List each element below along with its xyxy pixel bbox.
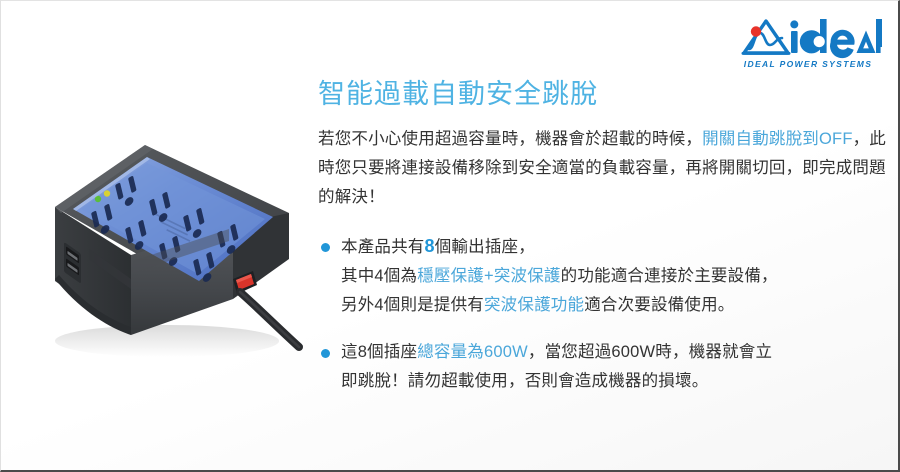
bullet2-line1-b: ，當您超過600W時，機器就會立 [528, 343, 772, 361]
brand-logo: IDEAL POWER SYSTEMS [732, 15, 882, 77]
bullet1-line2-b: 的功能適合連接於主要設備， [561, 267, 778, 285]
total-capacity-highlight: 總容量為600W [417, 343, 528, 361]
product-feature-banner: IDEAL POWER SYSTEMS [0, 0, 900, 472]
bullet1-line1: 本產品共有8個輸出插座， [341, 232, 890, 262]
bullet1-line3-a: 另外4個則是提供有 [341, 296, 484, 314]
intro-part1: 若您不小心使用超過容量時，機器會於超載的時候， [318, 130, 702, 148]
list-item: 這8個插座總容量為600W，當您超過600W時，機器就會立 即跳脫！請勿超載使用… [318, 338, 890, 396]
outlet-count-value: 8 [425, 236, 435, 256]
feature-bullet-list: 本產品共有8個輸出插座， 其中4個為穩壓保護+突波保護的功能適合連接於主要設備，… [318, 232, 890, 396]
intro-paragraph: 若您不小心使用超過容量時，機器會於超載的時候，開關自動跳脫到OFF，此時您只要將… [318, 125, 890, 212]
ideal-logo-icon [732, 17, 882, 59]
banner-background: IDEAL POWER SYSTEMS [1, 1, 898, 470]
bullet1-line1-b: 個輸出插座， [435, 238, 535, 256]
bullet2-line1-a: 這8個插座 [341, 343, 417, 361]
bullet1-line3-b: 適合次要設備使用。 [584, 296, 734, 314]
bullet1-line2: 其中4個為穩壓保護+突波保護的功能適合連接於主要設備， [341, 262, 890, 291]
brand-tagline: IDEAL POWER SYSTEMS [736, 59, 880, 69]
list-item: 本產品共有8個輸出插座， 其中4個為穩壓保護+突波保護的功能適合連接於主要設備，… [318, 232, 890, 320]
bullet1-line2-a: 其中4個為 [341, 267, 417, 285]
bullet1-line2-highlight: 穩壓保護+突波保護 [417, 267, 560, 285]
bullet1-line3: 另外4個則是提供有突波保護功能適合次要設備使用。 [341, 291, 890, 320]
product-photo [37, 129, 327, 369]
bullet-dot-icon [321, 243, 330, 252]
page-title: 智能過載自動安全跳脫 [318, 77, 890, 111]
bullet-dot-icon [321, 349, 330, 358]
bullet2-line2: 即跳脫！請勿超載使用，否則會造成機器的損壞。 [341, 367, 890, 396]
surge-protector-illustration [37, 129, 327, 369]
bullet1-line1-a: 本產品共有 [341, 238, 425, 256]
bullet1-line3-highlight: 突波保護功能 [484, 296, 584, 314]
feature-text-column: 智能過載自動安全跳脫 若您不小心使用超過容量時，機器會於超載的時候，開關自動跳脫… [318, 77, 890, 396]
bullet2-line1: 這8個插座總容量為600W，當您超過600W時，機器就會立 [341, 338, 890, 367]
intro-highlight: 開關自動跳脫到OFF [702, 130, 853, 148]
